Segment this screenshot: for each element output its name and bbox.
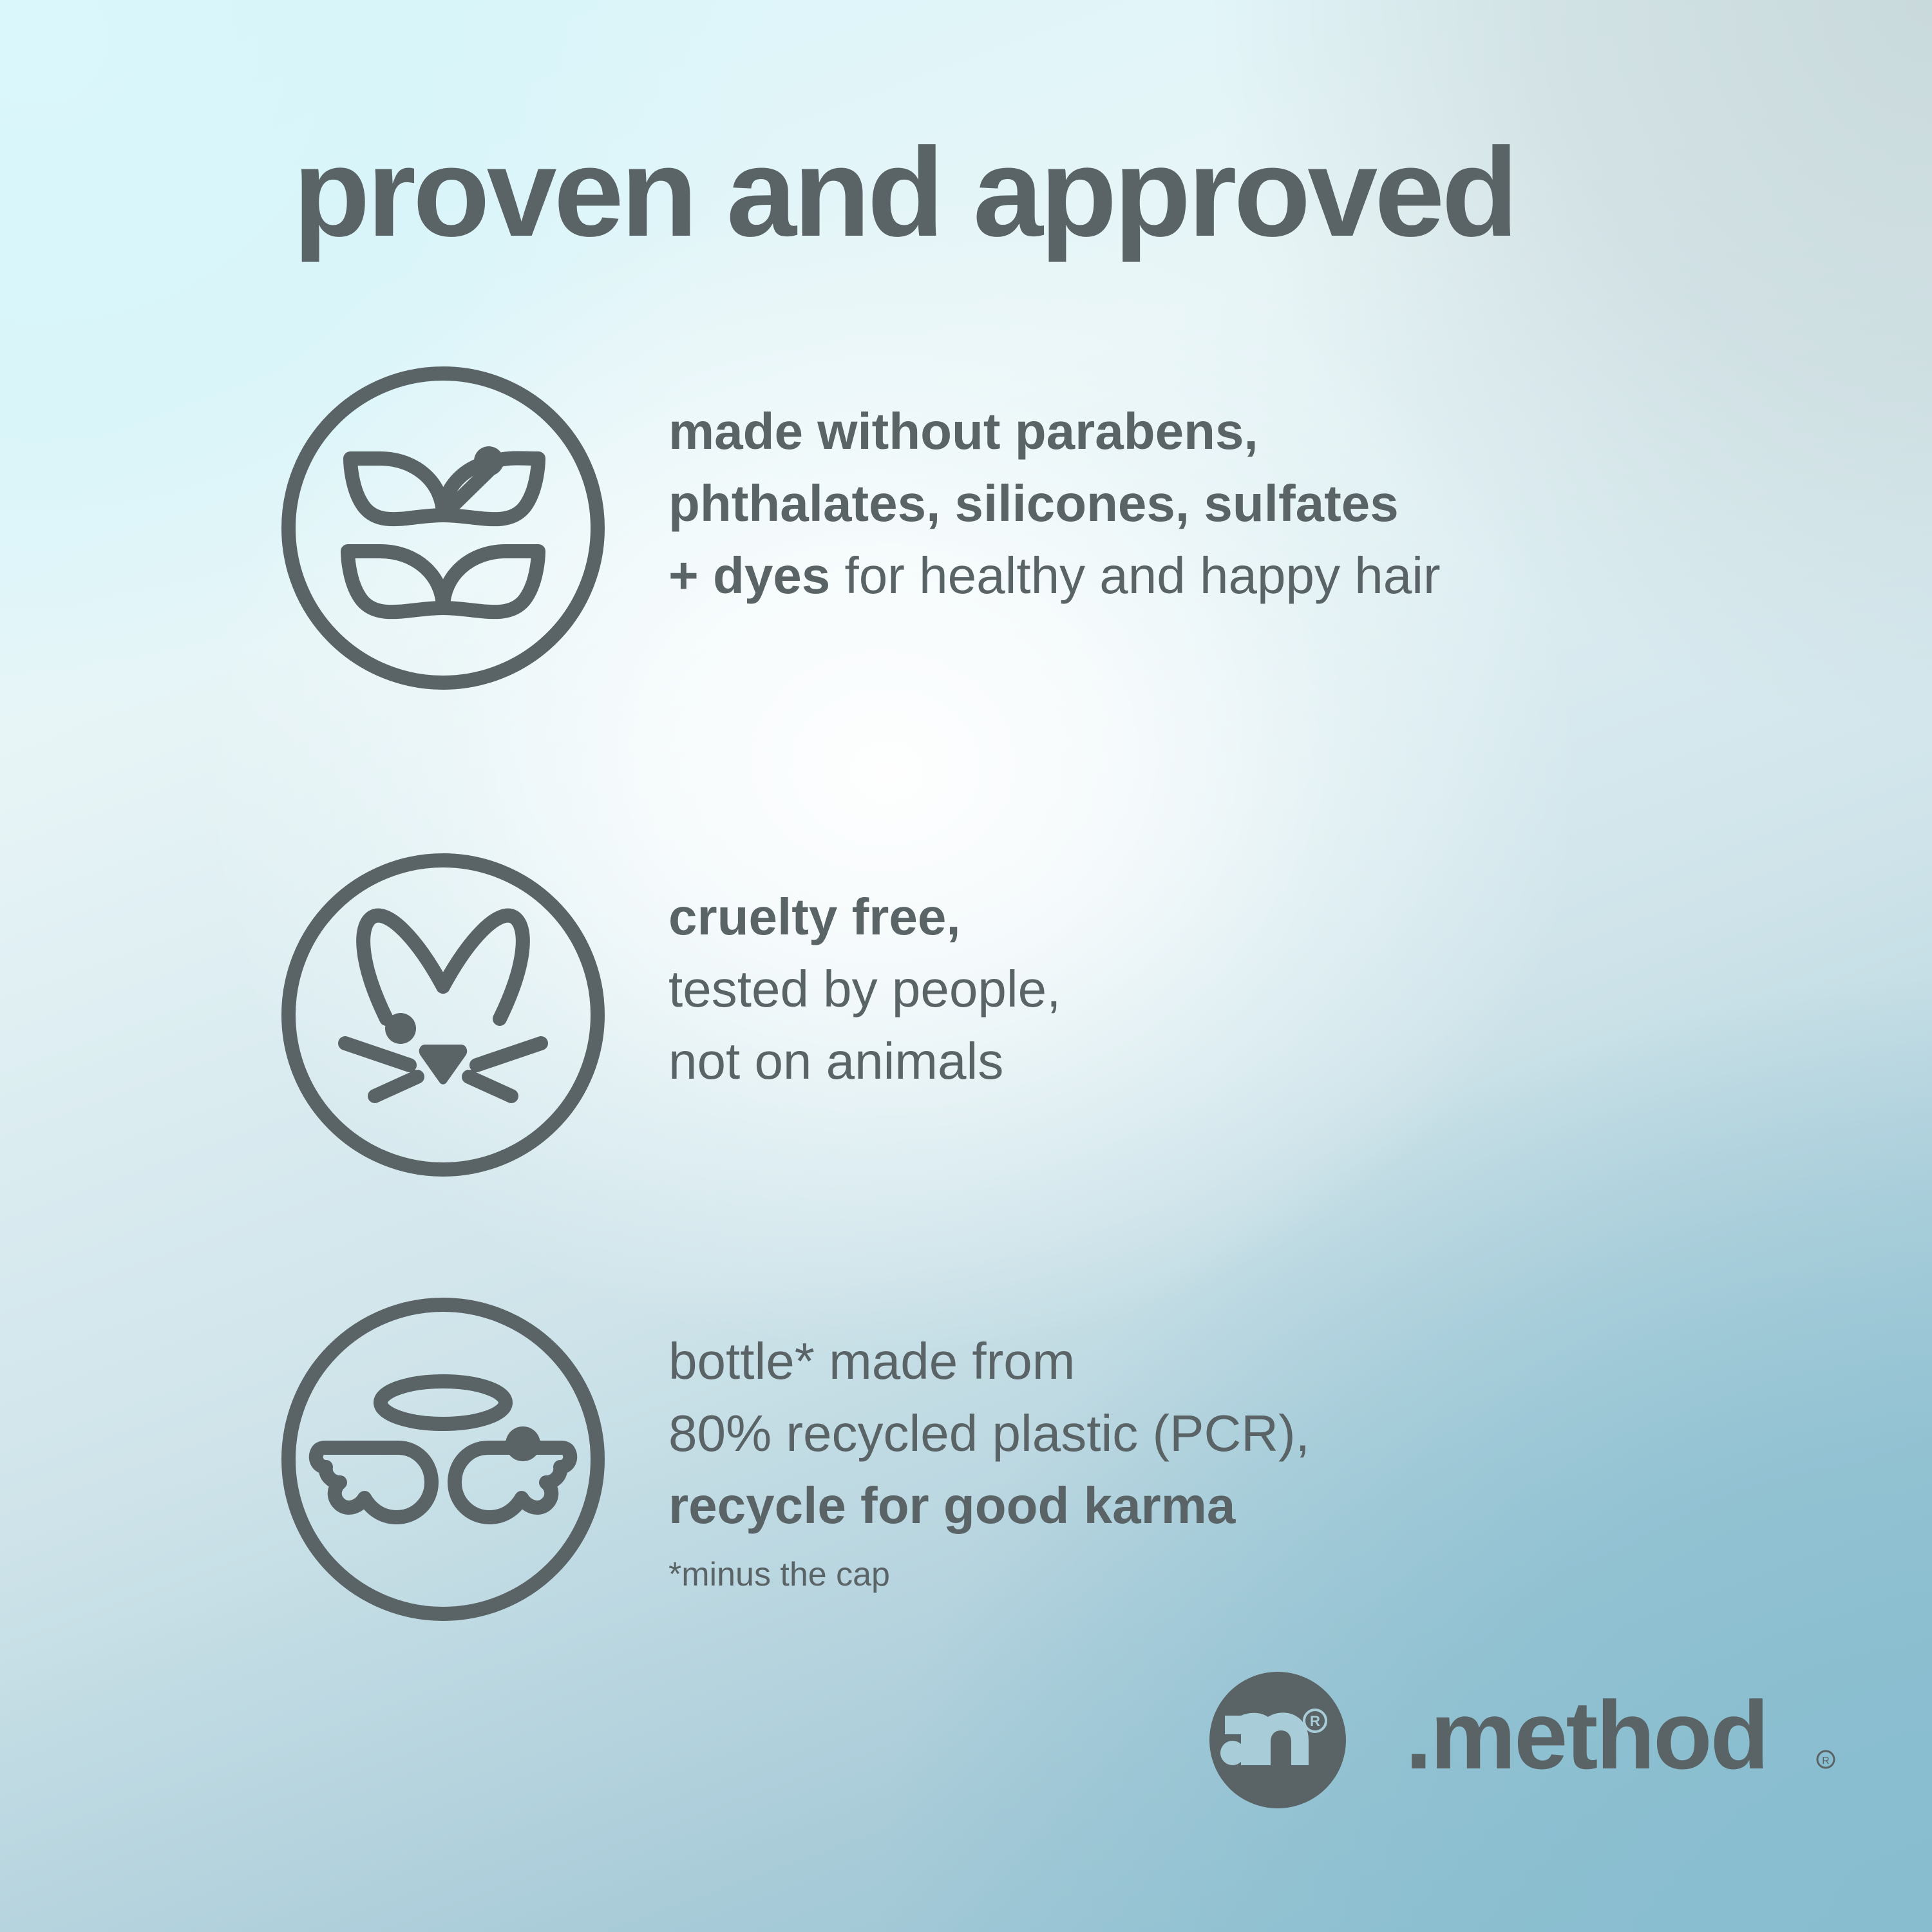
feature-line: recycle for good karma (668, 1470, 1828, 1542)
brand-lockup: R .method R (1209, 1672, 1841, 1808)
feature-line-emphasis: + dyes (668, 547, 830, 604)
feature-line: made without parabens, (668, 395, 1828, 468)
feature-footnote: *minus the cap (668, 1553, 1828, 1597)
feature-line: not on animals (668, 1025, 1828, 1097)
method-wordmark-text: .method (1405, 1681, 1767, 1789)
plant-sprout-icon (278, 363, 608, 693)
angel-wings-halo-icon (278, 1294, 608, 1624)
svg-text:R: R (1822, 1756, 1830, 1766)
promo-graphic-canvas: proven and approved made without (0, 0, 1932, 1932)
feature-text-cruelty-free: cruelty free, tested by people, not on a… (668, 881, 1828, 1097)
method-wordmark: .method R (1405, 1672, 1841, 1808)
svg-text:R: R (1310, 1713, 1320, 1729)
method-circle-mark-icon: R (1209, 1672, 1346, 1808)
bunny-icon (278, 850, 608, 1180)
feature-line: phthalates, silicones, sulfates (668, 468, 1828, 540)
feature-line: + dyes for healthy and happy hair (668, 540, 1828, 612)
page-title: proven and approved (293, 126, 1710, 259)
feature-line-tail: for healthy and happy hair (830, 547, 1440, 604)
feature-line: 80% recycled plastic (PCR), (668, 1397, 1828, 1470)
feature-line: tested by people, (668, 953, 1828, 1025)
feature-line: bottle* made from (668, 1325, 1828, 1397)
feature-text-ingredients: made without parabens, phthalates, silic… (668, 395, 1828, 612)
feature-text-recycled-bottle: bottle* made from 80% recycled plastic (… (668, 1325, 1828, 1597)
feature-line: cruelty free, (668, 881, 1828, 953)
